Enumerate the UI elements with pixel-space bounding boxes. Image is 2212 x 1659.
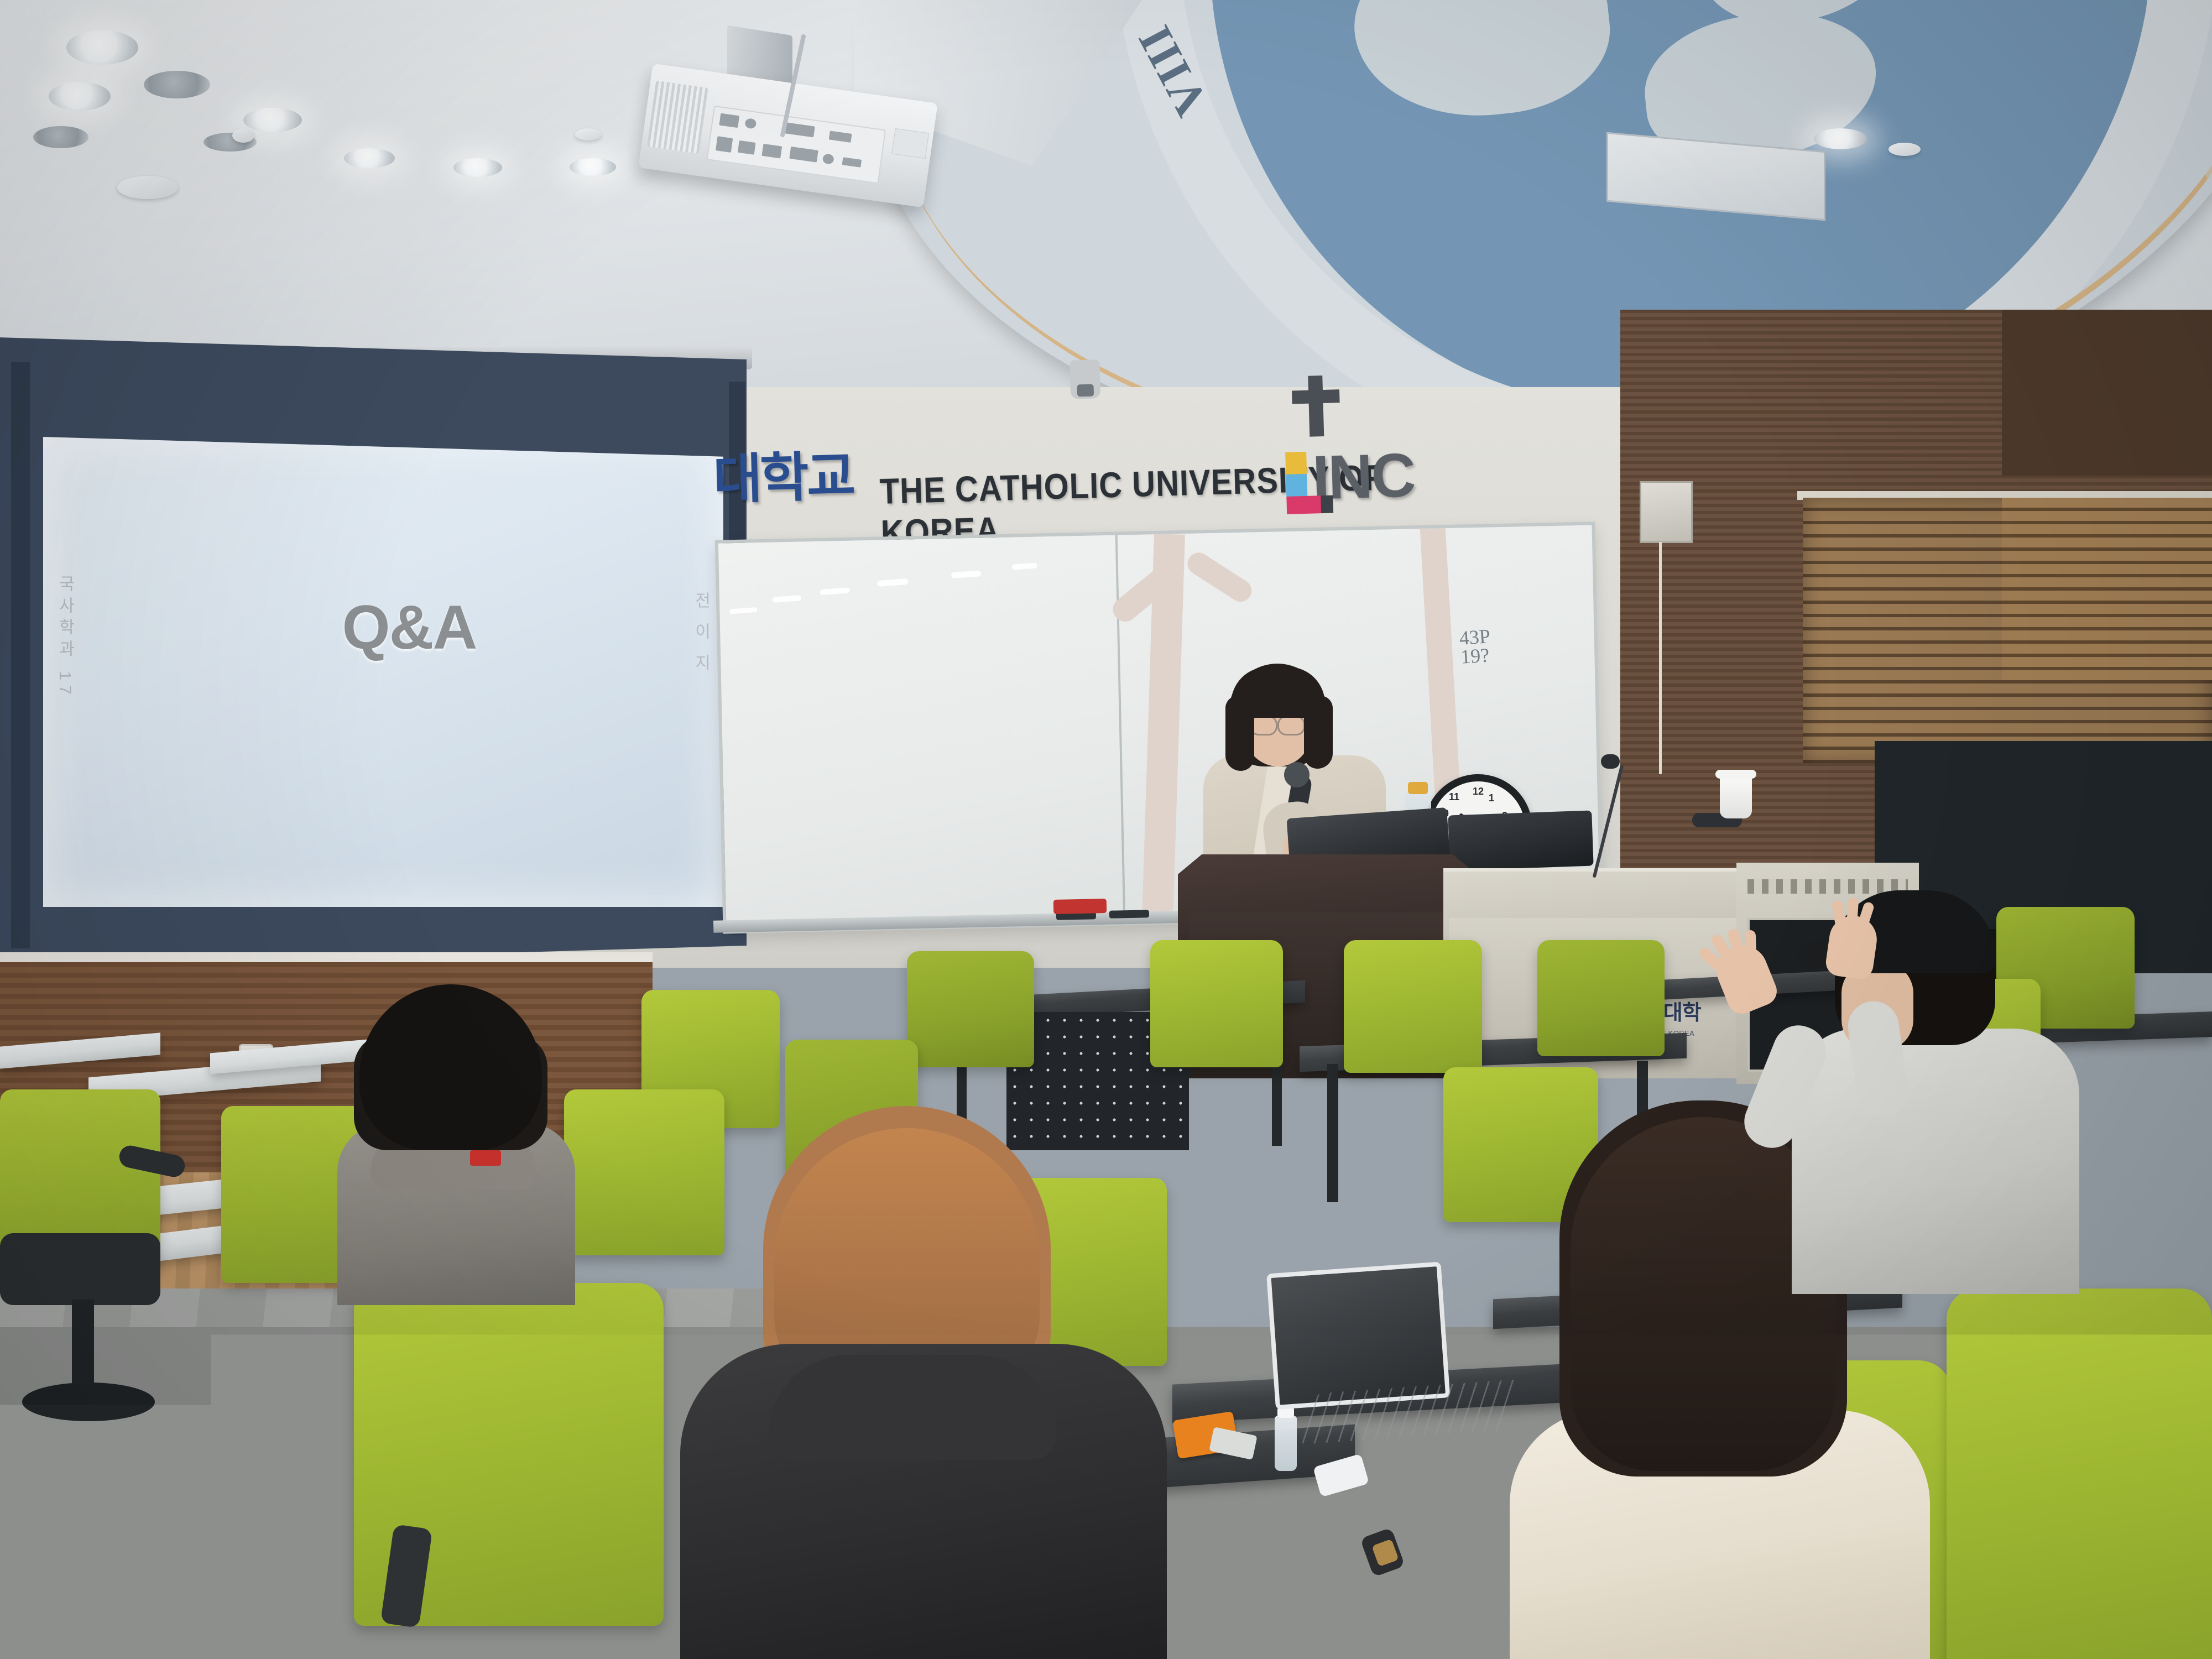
slide-title: Q&A bbox=[299, 592, 520, 663]
downlight bbox=[243, 108, 302, 132]
downlight bbox=[344, 148, 395, 168]
chair[interactable] bbox=[1344, 940, 1482, 1073]
chair[interactable] bbox=[1947, 1288, 2212, 1659]
backpack bbox=[400, 1427, 677, 1659]
projector-port-panel bbox=[706, 106, 886, 184]
student-2-hood bbox=[769, 1355, 1056, 1460]
projector-vent-icon bbox=[647, 81, 708, 154]
downlight bbox=[66, 30, 138, 65]
smoke-detector-icon bbox=[1888, 143, 1921, 156]
downlight-off bbox=[33, 126, 88, 148]
presenter-hair-right bbox=[1304, 696, 1333, 769]
window-blinds-secondary[interactable] bbox=[2002, 498, 2212, 680]
smoke-detector-icon bbox=[232, 128, 254, 143]
office-chair-base bbox=[22, 1383, 155, 1421]
student-1-hair bbox=[359, 984, 542, 1150]
linc-l-color-block bbox=[1285, 452, 1308, 514]
podium-monitor-secondary bbox=[1448, 810, 1593, 870]
gooseneck-mic-head-icon bbox=[1601, 754, 1620, 769]
cross-icon bbox=[1308, 375, 1324, 437]
camera-icon bbox=[1070, 359, 1100, 399]
paper-cup-rim bbox=[1715, 770, 1756, 779]
wall-signage: 대학교 THE CATHOLIC UNIVERSITY OF KOREA INC bbox=[712, 409, 1500, 536]
speaker-cable bbox=[1659, 542, 1662, 774]
student-1 bbox=[337, 984, 570, 1272]
office-chair-post bbox=[72, 1300, 94, 1394]
paper-cup bbox=[1720, 774, 1752, 818]
student-2 bbox=[680, 1106, 1156, 1659]
smoke-detector-icon bbox=[117, 176, 178, 199]
bottle-cap bbox=[1408, 782, 1428, 794]
downlight bbox=[49, 82, 111, 111]
tablet-with-keyboard[interactable] bbox=[1266, 1259, 1488, 1439]
chair[interactable] bbox=[907, 951, 1034, 1067]
lecture-hall-photo: XII XI X IX VIII bbox=[0, 0, 2212, 1659]
smoke-detector-icon bbox=[575, 128, 602, 140]
student-4 bbox=[1781, 890, 2074, 1288]
student-4-hoodie bbox=[1792, 1029, 2079, 1294]
projection-screen-surface bbox=[43, 437, 723, 907]
downlight-off bbox=[144, 71, 210, 98]
sign-korean-text: 대학교 bbox=[712, 433, 854, 514]
whiteboard-eraser[interactable] bbox=[1053, 899, 1107, 914]
screen-side-bar-left bbox=[11, 362, 30, 948]
dickies-logo bbox=[470, 1150, 501, 1166]
microphone-head-icon bbox=[1284, 762, 1310, 787]
downlight bbox=[1814, 128, 1867, 149]
chair[interactable] bbox=[1537, 940, 1665, 1056]
whiteboard-handwriting: 43P 19? bbox=[1459, 627, 1493, 666]
downlight bbox=[453, 158, 502, 177]
downlight bbox=[570, 158, 616, 176]
right-wood-wall-upper bbox=[2002, 310, 2212, 476]
presenter-hair-left bbox=[1225, 696, 1254, 771]
projector-label bbox=[891, 128, 929, 159]
slide-left-vertical-label: 국사학과 17 bbox=[53, 575, 77, 700]
office-chair-seat[interactable] bbox=[0, 1233, 160, 1305]
desk-leg bbox=[1327, 1064, 1338, 1202]
wall-speaker bbox=[1640, 481, 1693, 543]
slide-right-vertical-label: 전 이 지 bbox=[688, 592, 713, 676]
whiteboard-marker bbox=[1109, 910, 1149, 919]
chair[interactable] bbox=[1150, 940, 1283, 1067]
linc-logo: INC bbox=[1285, 439, 1415, 514]
